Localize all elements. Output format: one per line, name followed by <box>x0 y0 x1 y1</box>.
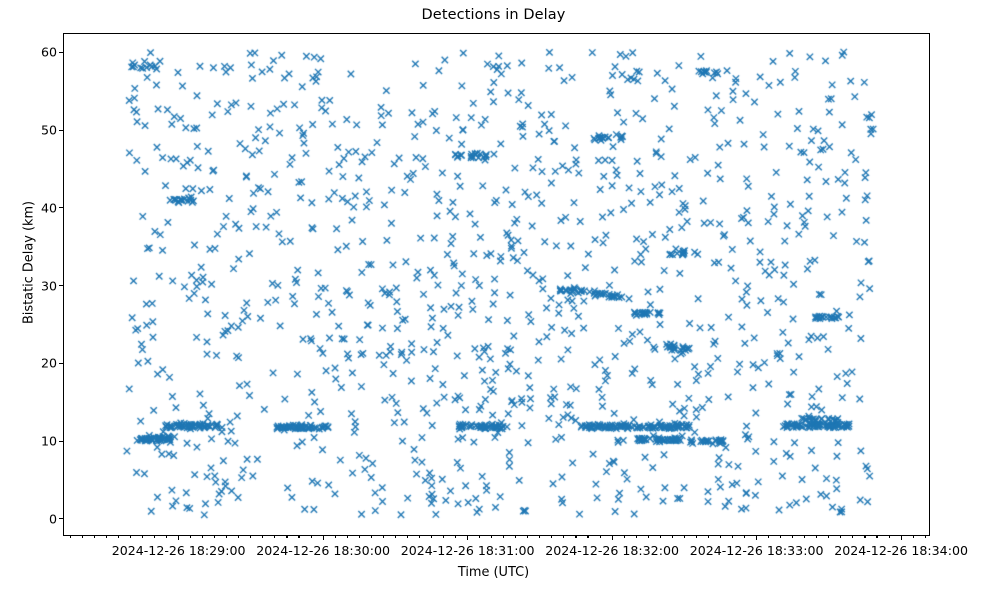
x-tick-mark <box>467 536 468 540</box>
x-tick-minor <box>407 536 408 538</box>
x-tick-minor <box>118 536 119 538</box>
x-tick-minor <box>142 536 143 538</box>
x-tick-minor <box>816 536 817 538</box>
x-tick-minor <box>527 536 528 538</box>
x-tick-label: 2024-12-26 18:33:00 <box>690 543 824 558</box>
x-tick-minor <box>575 536 576 538</box>
x-tick-minor <box>371 536 372 538</box>
x-tick-minor <box>684 536 685 538</box>
x-tick-minor <box>732 536 733 538</box>
x-tick-minor <box>262 536 263 538</box>
x-tick-minor <box>696 536 697 538</box>
x-tick-mark <box>756 536 757 540</box>
x-tick-minor <box>431 536 432 538</box>
y-tick-label: 60 <box>23 45 57 60</box>
x-tick-minor <box>539 536 540 538</box>
x-tick-minor <box>840 536 841 538</box>
matplotlib-figure: Detections in Delay 0102030405060 2024-1… <box>0 0 987 590</box>
x-tick-label: 2024-12-26 18:34:00 <box>834 543 968 558</box>
x-tick-minor <box>648 536 649 538</box>
x-tick-minor <box>925 536 926 538</box>
x-tick-minor <box>479 536 480 538</box>
x-tick-minor <box>780 536 781 538</box>
x-tick-minor <box>70 536 71 538</box>
x-tick-minor <box>660 536 661 538</box>
y-tick-label: 10 <box>23 434 57 449</box>
plot-axes <box>63 33 930 536</box>
x-tick-minor <box>563 536 564 538</box>
x-tick-mark <box>612 536 613 540</box>
x-tick-minor <box>720 536 721 538</box>
x-tick-label: 2024-12-26 18:29:00 <box>112 543 246 558</box>
x-tick-minor <box>828 536 829 538</box>
x-tick-minor <box>94 536 95 538</box>
page-title: Detections in Delay <box>0 7 987 23</box>
x-tick-label: 2024-12-26 18:30:00 <box>256 543 390 558</box>
x-tick-minor <box>491 536 492 538</box>
x-tick-minor <box>455 536 456 538</box>
x-tick-minor <box>852 536 853 538</box>
x-tick-mark <box>178 536 179 540</box>
y-axis-label: Bistatic Delay (km) <box>22 113 37 413</box>
x-tick-minor <box>238 536 239 538</box>
x-tick-minor <box>82 536 83 538</box>
x-tick-minor <box>600 536 601 538</box>
scatter-plot-canvas <box>64 34 930 536</box>
x-tick-minor <box>286 536 287 538</box>
y-tick-label: 0 <box>23 511 57 526</box>
x-tick-minor <box>864 536 865 538</box>
x-tick-minor <box>551 536 552 538</box>
x-tick-minor <box>503 536 504 538</box>
x-tick-minor <box>383 536 384 538</box>
x-tick-minor <box>792 536 793 538</box>
x-tick-minor <box>226 536 227 538</box>
x-tick-label: 2024-12-26 18:32:00 <box>545 543 679 558</box>
x-tick-minor <box>515 536 516 538</box>
x-tick-minor <box>443 536 444 538</box>
x-tick-minor <box>335 536 336 538</box>
x-tick-minor <box>106 536 107 538</box>
x-tick-minor <box>359 536 360 538</box>
x-tick-minor <box>876 536 877 538</box>
x-tick-minor <box>311 536 312 538</box>
x-tick-minor <box>298 536 299 538</box>
x-tick-minor <box>274 536 275 538</box>
x-tick-minor <box>250 536 251 538</box>
x-tick-minor <box>624 536 625 538</box>
x-tick-minor <box>913 536 914 538</box>
x-tick-minor <box>419 536 420 538</box>
x-tick-minor <box>166 536 167 538</box>
x-tick-mark <box>901 536 902 540</box>
x-tick-minor <box>214 536 215 538</box>
x-tick-minor <box>154 536 155 538</box>
x-tick-minor <box>130 536 131 538</box>
x-tick-minor <box>202 536 203 538</box>
x-axis-label: Time (UTC) <box>0 565 987 580</box>
x-tick-minor <box>708 536 709 538</box>
x-tick-minor <box>587 536 588 538</box>
x-tick-minor <box>347 536 348 538</box>
x-tick-minor <box>672 536 673 538</box>
x-tick-label: 2024-12-26 18:31:00 <box>401 543 535 558</box>
x-tick-minor <box>395 536 396 538</box>
x-tick-minor <box>768 536 769 538</box>
x-tick-minor <box>190 536 191 538</box>
x-tick-minor <box>889 536 890 538</box>
x-tick-minor <box>636 536 637 538</box>
x-tick-minor <box>744 536 745 538</box>
x-tick-minor <box>804 536 805 538</box>
x-tick-mark <box>323 536 324 540</box>
